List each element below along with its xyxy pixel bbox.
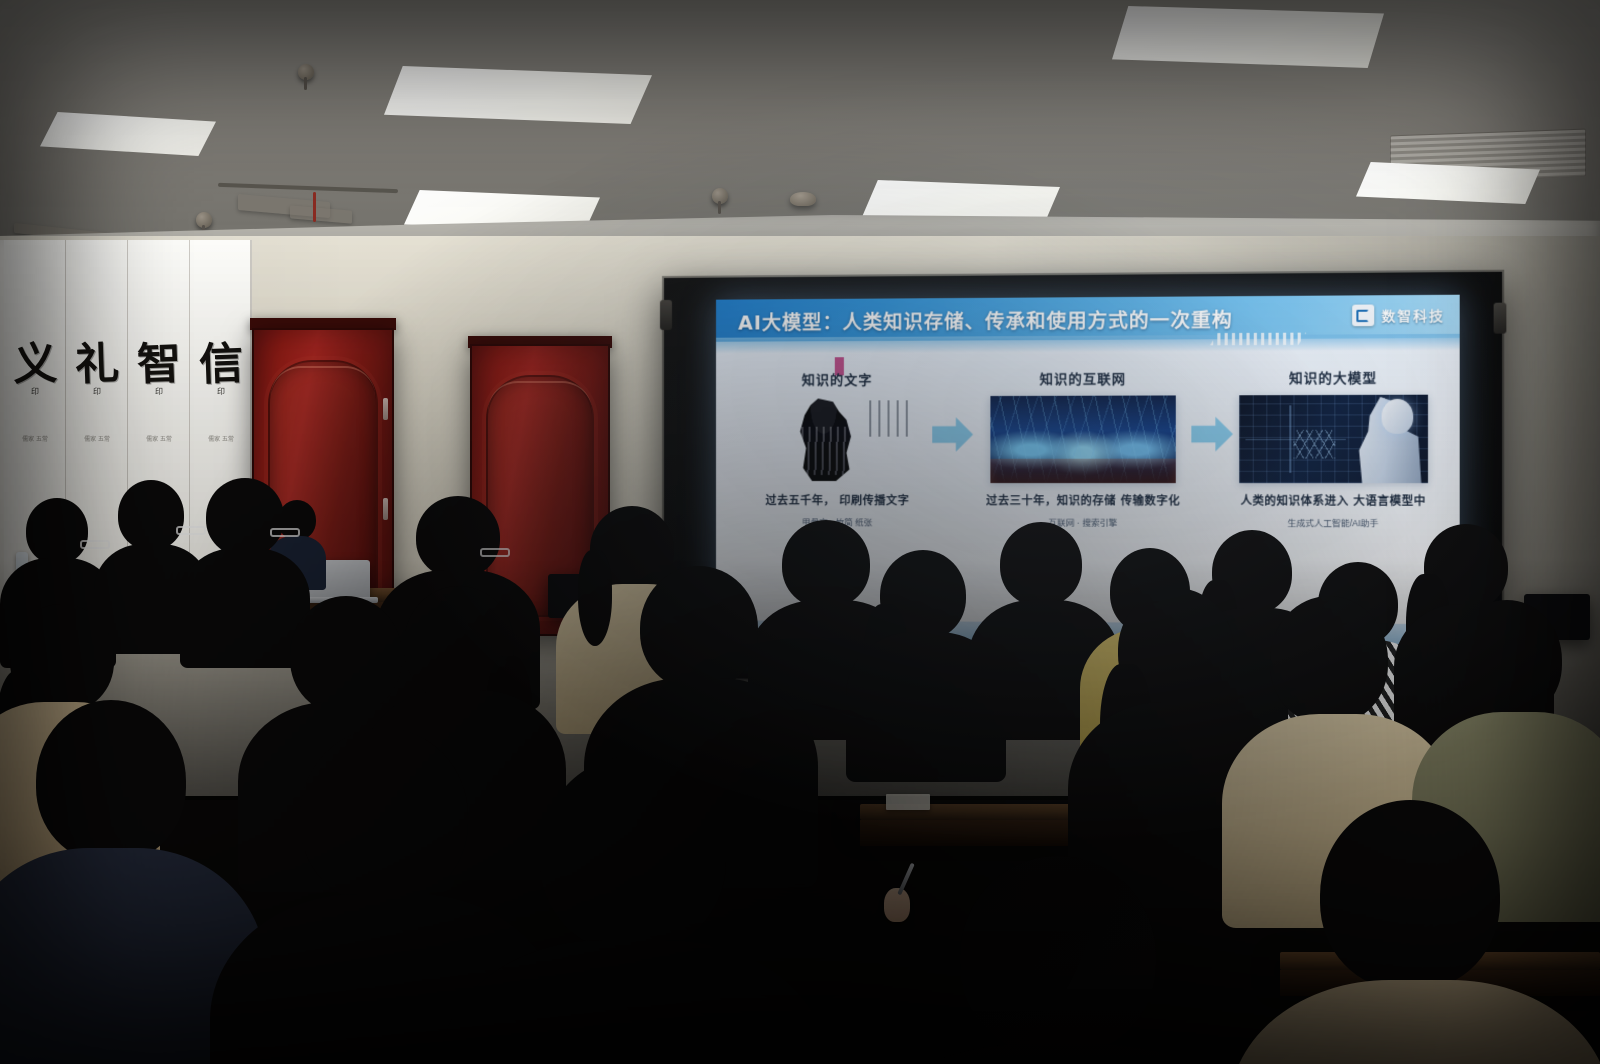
column-2-heading: 知识的互联网	[975, 368, 1191, 388]
door-arch-highlight-left	[271, 366, 376, 396]
head	[290, 596, 402, 714]
calligraphy-seal-2: 印	[66, 386, 128, 397]
door-hinge-left-top	[383, 398, 388, 420]
scribe-figure-icon	[787, 398, 862, 481]
calligraphy-subtext-4: 儒家 五常	[190, 436, 252, 445]
sprinkler-2	[196, 212, 212, 228]
head	[1000, 522, 1082, 606]
door-arch-highlight-right	[488, 381, 591, 411]
column-3-note: 生成式人工智能/AI助手	[1223, 517, 1443, 530]
slide-column-2: 知识的互联网 过去三十年，知识的存储 传输数字化 互联网 · 搜索引擎	[975, 368, 1191, 530]
calligraphy-seal-4: 印	[190, 386, 252, 397]
ceiling-wire	[313, 192, 316, 222]
calligraphy-char-yi: 义	[3, 327, 67, 393]
company-logo-mark-icon	[1352, 305, 1374, 327]
ancient-script-strokes-icon	[870, 400, 915, 436]
column-1-heading: 知识的文字	[731, 369, 943, 389]
head	[782, 520, 870, 608]
calligraphy-seal-3: 印	[128, 386, 190, 397]
calligraphy-subtext-2: 儒家 五常	[66, 436, 128, 445]
glasses-icon	[480, 548, 510, 557]
torso	[856, 1044, 1266, 1064]
glasses-icon	[176, 526, 206, 535]
digital-network-city-image	[990, 395, 1175, 483]
head	[118, 480, 184, 550]
calligraphy-char-zhi: 智	[127, 327, 191, 393]
head	[1320, 800, 1500, 990]
slide-column-3: 知识的大模型 人类的知识体系进入 大语言模型中 生成式人工智能/AI助手	[1223, 367, 1443, 530]
calligraphy-subtext-3: 儒家 五常	[128, 436, 190, 445]
smoke-detector	[790, 192, 816, 206]
ancient-scribe-illustration	[746, 396, 928, 483]
slide-logo: 数智科技	[1352, 304, 1445, 326]
column-3-body: 人类的知识体系进入 大语言模型中	[1223, 492, 1443, 510]
sprinkler-3	[712, 188, 728, 204]
calligraphy-subtext-1: 儒家 五常	[4, 436, 66, 445]
sprinkler-1	[298, 64, 314, 80]
glasses-icon	[270, 528, 300, 537]
screen-bracket-right	[1494, 303, 1507, 334]
humanoid-robot-image	[1239, 395, 1428, 483]
head	[416, 496, 500, 578]
head	[26, 498, 88, 564]
door-hinge-left-bottom	[383, 498, 388, 520]
hair	[578, 550, 612, 646]
slide-header-decoration	[1210, 333, 1306, 346]
head	[1452, 600, 1562, 720]
screen-bracket-left	[660, 300, 672, 330]
column-3-heading: 知识的大模型	[1223, 367, 1443, 387]
head	[206, 478, 284, 556]
calligraphy-char-xin: 信	[189, 327, 252, 393]
calligraphy-seal-1: 印	[4, 386, 66, 397]
head	[300, 728, 468, 904]
head	[960, 856, 1156, 1056]
glasses-icon	[80, 540, 110, 549]
head	[36, 700, 186, 862]
head	[540, 756, 726, 952]
paper-sheet[interactable]	[886, 794, 930, 810]
ceiling-panel-light-2	[384, 66, 652, 124]
robot-head-icon	[1381, 399, 1413, 434]
head	[640, 566, 758, 690]
presentation-room-photo: 义 印 儒家 五常 礼 印 儒家 五常 智 印 儒家 五常 信 印 儒家 五常	[0, 0, 1600, 1064]
calligraphy-char-li: 礼	[65, 327, 129, 393]
column-2-body: 过去三十年，知识的存储 传输数字化	[975, 492, 1191, 509]
pen[interactable]	[897, 863, 914, 896]
company-logo-text: 数智科技	[1382, 305, 1445, 325]
head	[1270, 596, 1388, 724]
slide-title: AI大模型：人类知识存储、传承和使用方式的一次重构	[738, 305, 1233, 335]
column-1-body: 过去五千年， 印刷传播文字	[731, 492, 943, 509]
slide-column-1: 知识的文字 过去五千年， 印刷传播文字 甲骨文 · 竹简 纸张	[731, 369, 943, 529]
ceiling-panel-light-1	[1112, 6, 1384, 68]
column-2-note: 互联网 · 搜索引擎	[975, 516, 1191, 529]
hex-grid-icon	[1293, 430, 1335, 459]
